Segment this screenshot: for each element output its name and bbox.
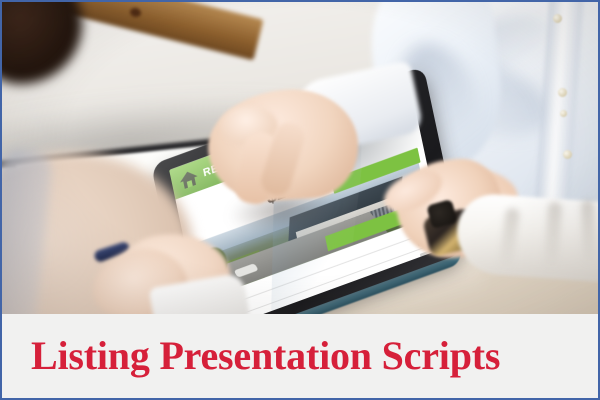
- page-title: Listing Presentation Scripts: [31, 336, 500, 376]
- shirt-button: [558, 88, 567, 97]
- hero-photograph: REALESTATE 6323 Sierra Drive Rd San Dieg…: [2, 2, 598, 314]
- title-banner: Listing Presentation Scripts: [2, 314, 598, 398]
- shirt-button: [553, 14, 562, 23]
- house-icon: [177, 167, 200, 191]
- shirt-button: [560, 110, 567, 117]
- shirt-button: [563, 150, 572, 159]
- sleeve-fold: [581, 200, 596, 266]
- screenshot-frame: REALESTATE 6323 Sierra Drive Rd San Dieg…: [0, 0, 600, 400]
